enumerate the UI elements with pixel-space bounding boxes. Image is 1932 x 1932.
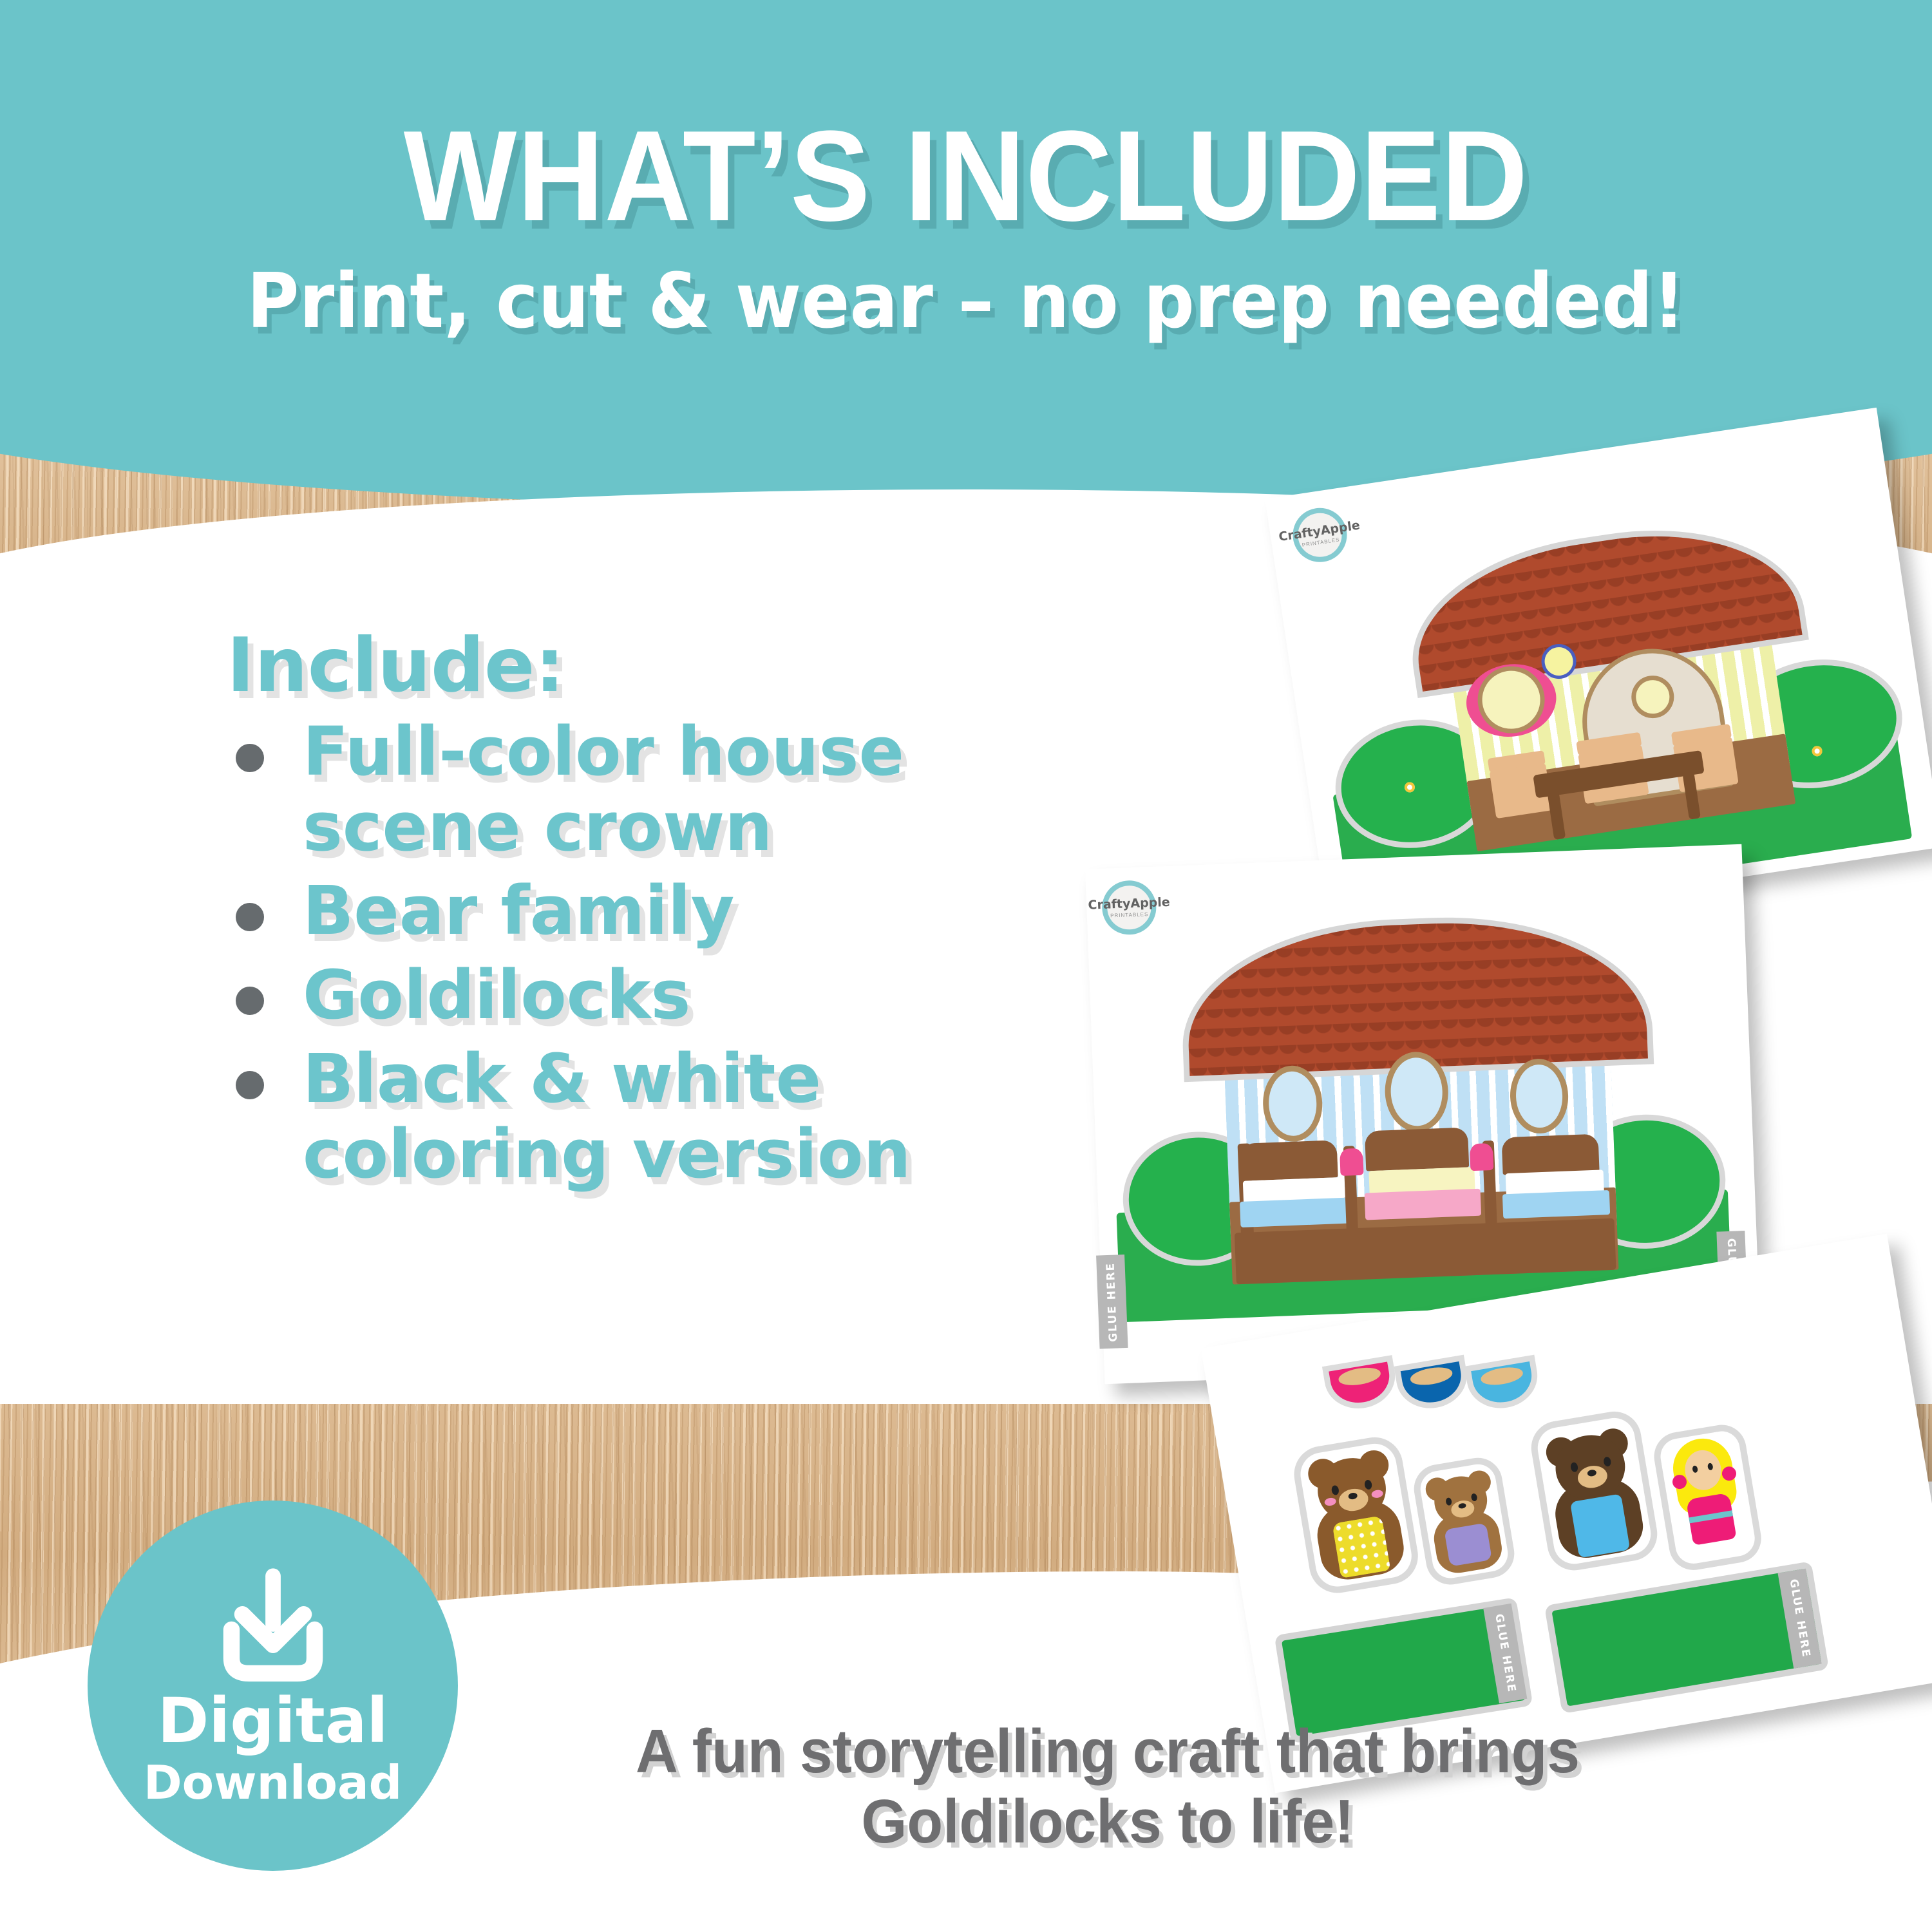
- watermark-brand: CraftyApple: [1088, 896, 1170, 911]
- download-icon: [218, 1566, 328, 1682]
- bed-blanket-1: [1240, 1197, 1351, 1227]
- character-goldilocks: [1658, 1428, 1757, 1566]
- list-item-label: Full-color house scene crown: [303, 712, 904, 866]
- page-subtitle: Print, cut & wear – no prep needed!: [247, 263, 1685, 339]
- header-content: WHAT’S INCLUDED Print, cut & wear – no p…: [0, 0, 1932, 451]
- include-heading: Include:: [227, 628, 1128, 704]
- include-list: Full-color house scene crown Bear family…: [227, 714, 1128, 1191]
- bottom-caption: A fun storytelling craft that brings Gol…: [508, 1716, 1707, 1857]
- character-papa-bear: [1535, 1415, 1654, 1567]
- digital-download-badge[interactable]: Digital Download: [88, 1501, 458, 1871]
- bedside-lamp-right: [1470, 1143, 1494, 1171]
- page-title: WHAT’S INCLUDED: [404, 112, 1528, 241]
- bed-blanket-2: [1365, 1189, 1481, 1220]
- list-item-label: Black & white coloring version: [303, 1039, 911, 1193]
- list-item-label: Bear family: [303, 871, 734, 950]
- list-item: Goldilocks: [227, 958, 1128, 1032]
- character-mama-bear: [1297, 1441, 1415, 1590]
- list-item-label: Goldilocks: [303, 956, 690, 1034]
- porridge-bowl-baby: [1471, 1361, 1535, 1406]
- badge-line-1: Digital: [158, 1690, 388, 1752]
- character-baby-bear: [1417, 1462, 1510, 1581]
- mama-bear-dress: [1332, 1515, 1390, 1578]
- watermark-logo: CraftyApple PRINTABLES: [1289, 504, 1350, 565]
- bed-headboard-2: [1365, 1127, 1469, 1171]
- porridge-bowl-mama: [1401, 1361, 1465, 1406]
- watermark-tagline: PRINTABLES: [1110, 911, 1149, 918]
- bullet-dot-icon: [236, 744, 264, 772]
- bed-blanket-3: [1502, 1190, 1610, 1218]
- list-item: Full-color house scene crown: [227, 714, 1128, 864]
- bullet-dot-icon: [236, 1071, 264, 1099]
- list-item: Black & white coloring version: [227, 1041, 1128, 1191]
- bed-headboard-3: [1501, 1134, 1599, 1175]
- include-section: Include: Full-color house scene crown Be…: [227, 628, 1128, 1200]
- glue-tab-left: GLUE HERE: [1096, 1255, 1128, 1349]
- caption-line-2: Goldilocks to life!: [508, 1786, 1707, 1857]
- porridge-bowl-papa: [1329, 1361, 1393, 1406]
- bullet-dot-icon: [236, 903, 264, 931]
- list-item: Bear family: [227, 873, 1128, 948]
- poster-canvas: WHAT’S INCLUDED Print, cut & wear – no p…: [0, 0, 1932, 1932]
- badge-line-2: Download: [144, 1759, 402, 1806]
- caption-line-1: A fun storytelling craft that brings: [508, 1716, 1707, 1786]
- bullet-dot-icon: [236, 987, 264, 1015]
- bed-headboard-1: [1240, 1140, 1338, 1181]
- papa-bear-overalls: [1570, 1493, 1630, 1558]
- watermark-logo: CraftyApple PRINTABLES: [1101, 880, 1157, 936]
- bedside-lamp-left: [1340, 1148, 1364, 1176]
- baby-bear-shirt: [1444, 1523, 1492, 1567]
